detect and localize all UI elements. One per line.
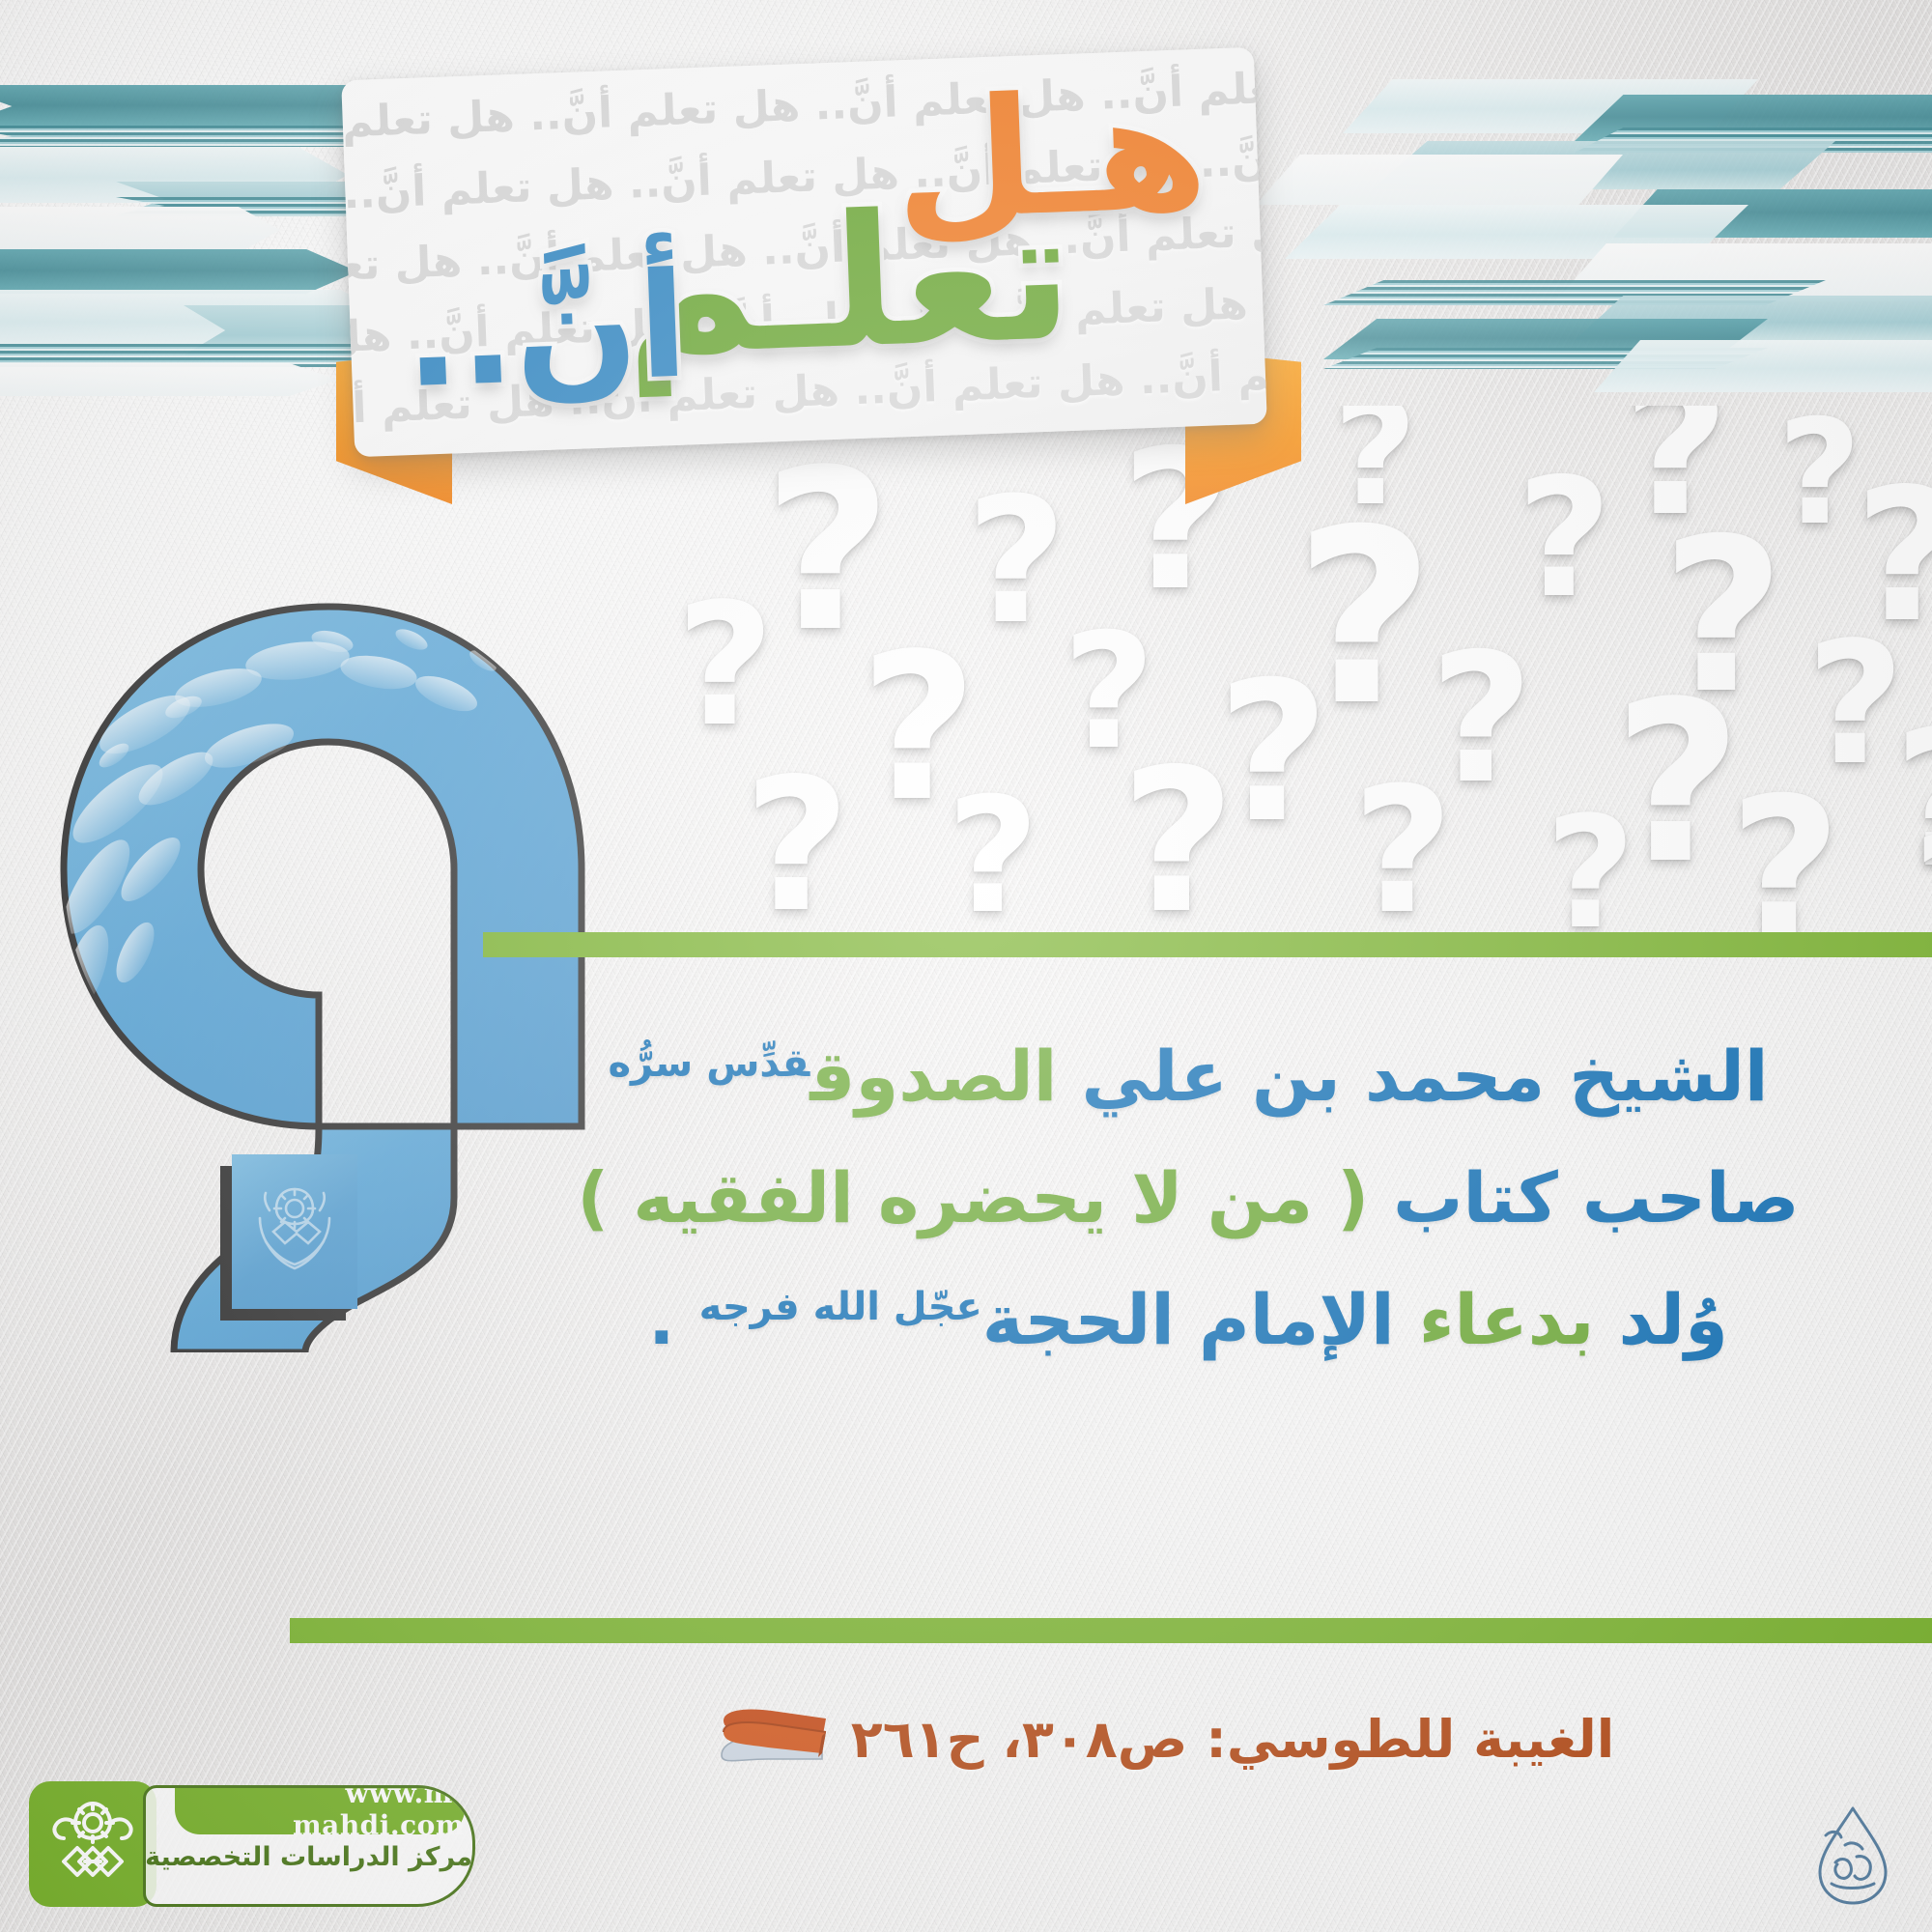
line2-highlight: ( من لا يحضره الفقيه ): [577, 1157, 1369, 1238]
website-url-pill[interactable]: www.m-mahdi.com: [175, 1785, 465, 1834]
line3-after: الإمام الحجة: [982, 1279, 1419, 1360]
line2-before: صاحب كتاب: [1369, 1157, 1800, 1238]
calligraphy-seal-icon: [1806, 1803, 1899, 1909]
footer-logo[interactable]: www.m-mahdi.com مركز الدراسات التخصصية ف…: [21, 1776, 475, 1920]
banner-title-text: هـل تعلـم أنَّ..: [341, 47, 1267, 457]
content-line-1: الشيخ محمد بن علي الصدوققدِّس سرُّه: [502, 1024, 1874, 1128]
divider-bottom: [290, 1618, 1932, 1643]
book-icon: [714, 1703, 830, 1775]
title-banner-card: هل تعلم أنَّ.. هل تعلم أنَّ.. هل تعلم أن…: [341, 47, 1267, 457]
poster-canvas: ? ? ? ? ? ? ? ? ? ? ? ? ? ? ? ? ? ? ? ? …: [0, 0, 1932, 1932]
seal-watermark-icon: [232, 1154, 357, 1309]
decorative-arrows-right: [1207, 0, 1932, 406]
line1-highlight: الصدوق: [810, 1036, 1057, 1117]
organization-name: مركز الدراسات التخصصية في الإمام المهدي: [146, 1842, 472, 1872]
line3-before: وُلد: [1594, 1279, 1727, 1360]
website-url[interactable]: www.m-mahdi.com: [175, 1785, 465, 1841]
question-mark-dot: [232, 1154, 357, 1309]
title-banner: هل تعلم أنَّ.. هل تعلم أنَّ.. هل تعلم أن…: [348, 64, 1290, 469]
organization-logo-icon: [29, 1781, 156, 1907]
line3-tail: .: [648, 1279, 698, 1360]
main-content: الشيخ محمد بن علي الصدوققدِّس سرُّه صاحب…: [502, 1024, 1874, 1584]
source-citation: الغيبة للطوسي: ص٣٠٨، ح٢٦١: [541, 1686, 1787, 1792]
line1-before: الشيخ محمد بن علي: [1057, 1036, 1768, 1117]
line3-highlight: بدعاء: [1419, 1279, 1595, 1360]
title-word-anna: أنَّ..: [402, 258, 690, 406]
source-text: الغيبة للطوسي: ص٣٠٨، ح٢٦١: [851, 1709, 1614, 1770]
logo-name-plate: www.m-mahdi.com مركز الدراسات التخصصية ف…: [143, 1785, 475, 1907]
content-line-2: صاحب كتاب ( من لا يحضره الفقيه ): [502, 1146, 1874, 1250]
divider-top: [483, 932, 1932, 957]
title-word-taalam: تعلـم: [620, 189, 1075, 379]
content-line-3: وُلد بدعاء الإمام الحجةعجّل الله فرجه .: [502, 1267, 1874, 1372]
line1-honorific: قدِّس سرُّه: [608, 1041, 810, 1086]
line3-honorific: عجّل الله فرجه: [699, 1285, 982, 1329]
